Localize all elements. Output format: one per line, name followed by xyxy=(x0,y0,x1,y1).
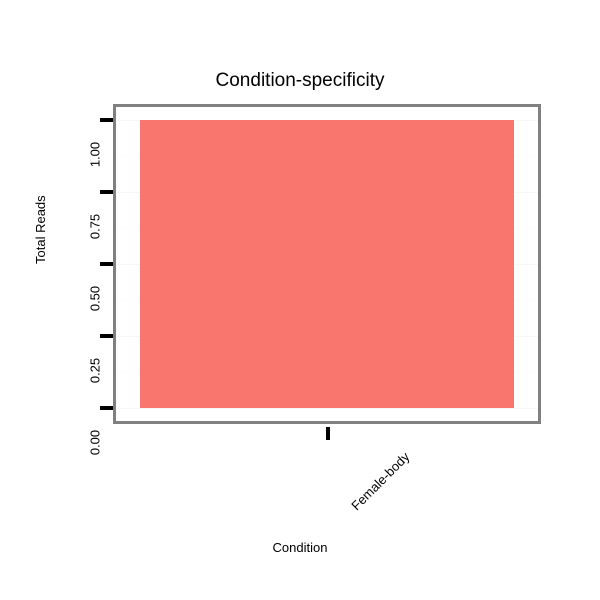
x-tick-label-female-body: Female-body xyxy=(348,449,412,513)
chart-title: Condition-specificity xyxy=(0,70,600,92)
y-tick-label: 1.00 xyxy=(88,120,103,190)
bar xyxy=(140,120,514,408)
plot-panel xyxy=(113,104,541,424)
x-axis-title: Condition xyxy=(0,540,600,555)
y-tick-label: 0.75 xyxy=(88,192,103,262)
gridline-major xyxy=(116,408,538,409)
y-tick-label: 0.50 xyxy=(88,264,103,334)
y-axis-title: Total Reads xyxy=(33,195,48,264)
plot-panel-inner xyxy=(116,107,538,421)
y-tick-label: 0.25 xyxy=(88,336,103,406)
y-tick-label: 0.00 xyxy=(88,408,103,478)
chart-figure: Condition-specificity 0.000.250.500.751.… xyxy=(0,0,600,600)
x-tick-mark-female-body xyxy=(326,427,330,440)
